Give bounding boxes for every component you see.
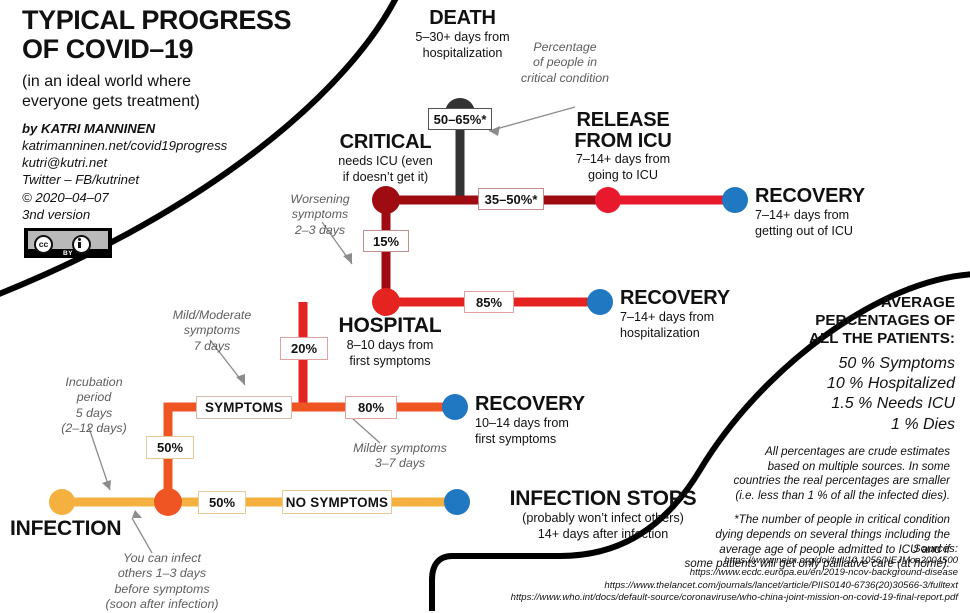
label-infection: INFECTION (10, 518, 200, 540)
node-split (154, 488, 182, 516)
box-symptoms-percentage[interactable]: 20% (280, 337, 328, 360)
label-recovery-symptoms-sub2: first symptoms (475, 432, 665, 447)
credit-author: by KATRI MANNINEN (22, 120, 322, 137)
node-critical (372, 186, 400, 214)
node-recovery-hospital (587, 289, 613, 315)
panel-note-estimates: All percentages are crude estimatesbased… (695, 445, 950, 503)
panel-heading-2: PERCENTAGES OF (815, 312, 955, 329)
note-mild-moderate: Mild/Moderatesymptoms7 days (155, 308, 269, 354)
label-hospital-sub2: first symptoms (330, 354, 450, 369)
panel-stat-0: 50 % Symptoms (700, 354, 955, 374)
node-infection-stops (444, 489, 470, 515)
note-worsening-symptoms: Worseningsymptoms2–3 days (272, 192, 368, 238)
arrowhead-worsening (343, 253, 352, 264)
label-release-from-icu: RELEASE FROM ICU 7–14+ days from going t… (548, 110, 698, 183)
note-milder-symptoms: Milder symptoms3–7 days (340, 441, 460, 472)
label-critical-title: CRITICAL (318, 132, 453, 153)
creative-commons-badge-icon: cc BY (24, 228, 112, 258)
label-death-title: DEATH (380, 8, 545, 29)
label-release-sub1: 7–14+ days from (548, 152, 698, 167)
node-recovery-icu (722, 187, 748, 213)
title-line-2: OF COVID–19 (22, 34, 193, 64)
box-mild-percentage[interactable]: 80% (345, 396, 397, 419)
box-symptoms[interactable]: SYMPTOMS (196, 396, 292, 419)
note-incubation-period: Incubationperiod5 days(2–12 days) (48, 375, 140, 437)
subtitle-line-2: everyone gets treatment) (22, 93, 200, 110)
label-recovery-icu: RECOVERY 7–14+ days from getting out of … (755, 186, 945, 239)
title-line-1: TYPICAL PROGRESS (22, 5, 291, 35)
source-url-1[interactable]: https://www.ecdc.europa.eu/en/2019-ncov-… (440, 567, 958, 579)
node-infection (49, 489, 75, 515)
subtitle-line-1: (in an ideal world where (22, 73, 191, 90)
panel-heading-3: ALL THE PATIENTS: (809, 330, 955, 347)
panel-stat-3: 1 % Dies (700, 415, 955, 435)
node-hospital (372, 288, 400, 316)
panel-stat-1: 10 % Hospitalized (700, 374, 955, 394)
box-no-symptoms[interactable]: NO SYMPTOMS (282, 490, 392, 514)
panel-stat-2: 1.5 % Needs ICU (700, 394, 955, 414)
infographic-canvas: TYPICAL PROGRESS OF COVID–19 (in an idea… (0, 0, 970, 611)
credit-website[interactable]: katrimanninen.net/covid19progress (22, 137, 322, 154)
box-death-percentage[interactable]: 50–65%* (428, 108, 492, 130)
box-icu-percentage[interactable]: 35–50%* (478, 188, 544, 210)
cc-by-label: BY (24, 250, 112, 257)
label-recovery-symptoms: RECOVERY 10–14 days from first symptoms (475, 394, 665, 447)
label-recovery-icu-sub2: getting out of ICU (755, 224, 945, 239)
average-percentages-panel: AVERAGE PERCENTAGES OF ALL THE PATIENTS:… (700, 294, 955, 572)
note-critical-condition: Percentageof people incritical condition (505, 40, 625, 86)
source-url-3[interactable]: https://www.who.int/docs/default-source/… (440, 592, 958, 604)
label-hospital: HOSPITAL 8–10 days from first symptoms (330, 315, 450, 369)
label-infection-title: INFECTION (10, 518, 200, 540)
label-critical: CRITICAL needs ICU (even if doesn’t get … (318, 132, 453, 185)
note-infect-others: You can infectothers 1–3 daysbefore symp… (92, 551, 232, 613)
label-recovery-icu-sub1: 7–14+ days from (755, 208, 945, 223)
sources-block: Sources: https://www.nejm.org/doi/full/1… (440, 543, 958, 604)
label-hospital-title: HOSPITAL (330, 315, 450, 337)
node-recovery-symptoms (442, 394, 468, 420)
panel-heading-1: AVERAGE (881, 294, 955, 311)
credit-email[interactable]: kutri@kutri.net (22, 154, 322, 171)
arrowhead-infect-others (132, 510, 142, 518)
label-recovery-symptoms-sub1: 10–14 days from (475, 416, 665, 431)
label-infection-stops-title: INFECTION STOPS (473, 488, 733, 510)
label-hospital-sub1: 8–10 days from (330, 338, 450, 353)
box-split-no-symptoms-percentage[interactable]: 50% (198, 491, 246, 514)
source-url-2[interactable]: https://www.thelancet.com/journals/lance… (440, 580, 958, 592)
label-release-title-1: RELEASE (548, 110, 698, 131)
credit-social[interactable]: Twitter – FB/kutrinet (22, 171, 322, 188)
box-split-symptoms-percentage[interactable]: 50% (146, 436, 194, 459)
arrowhead-incubation (102, 480, 111, 490)
page-title: TYPICAL PROGRESS OF COVID–19 (in an idea… (22, 6, 332, 111)
label-critical-sub2: if doesn’t get it) (318, 170, 453, 185)
arrow-milder (352, 418, 380, 443)
box-critical-percentage[interactable]: 15% (363, 230, 409, 252)
label-recovery-symptoms-title: RECOVERY (475, 394, 665, 415)
label-release-title-2: FROM ICU (548, 131, 698, 152)
label-release-sub2: going to ICU (548, 168, 698, 183)
source-url-0[interactable]: https://www.nejm.org/doi/full/10.1056/NE… (440, 555, 958, 567)
arrowhead-mild-moderate (236, 374, 245, 385)
sources-heading: Sources: (440, 543, 958, 555)
label-recovery-icu-title: RECOVERY (755, 186, 945, 207)
box-hospital-percentage[interactable]: 85% (464, 291, 514, 313)
node-release-from-icu (595, 187, 621, 213)
label-critical-sub1: needs ICU (even (318, 154, 453, 169)
